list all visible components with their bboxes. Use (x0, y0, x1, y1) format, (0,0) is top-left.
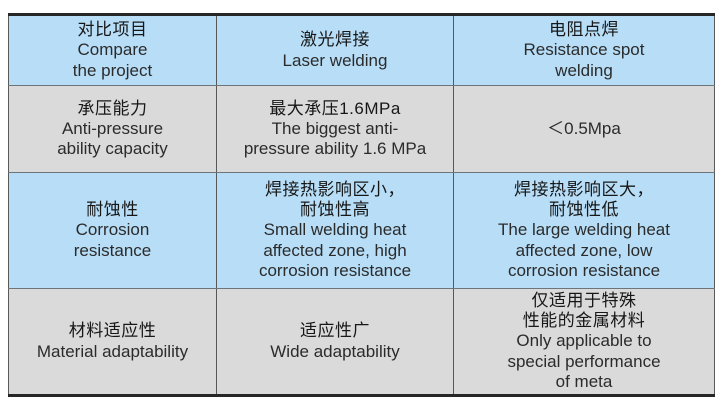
cell-en-line: Only applicable to (460, 331, 708, 351)
header-cell-text: 对比项目 Compare the project (15, 20, 210, 80)
cell-material-adaptability-resistance: 仅适用于特殊 性能的金属材料 Only applicable to specia… (454, 289, 715, 396)
cell-en-line: Wide adaptability (223, 342, 447, 362)
table-row: 承压能力 Anti-pressure ability capacity 最大承压… (9, 86, 715, 173)
cell-text: 焊接热影响区小， 耐蚀性高 Small welding heat affecte… (223, 180, 447, 280)
cell-cn-line: 性能的金属材料 (460, 311, 708, 331)
cell-anti-pressure-resistance: ＜0.5Mpa (454, 86, 715, 173)
cell-en-line: special performance (460, 352, 708, 372)
cell-en-line: affected zone, high (223, 241, 447, 261)
header-cell-laser-welding: 激光焊接 Laser welding (217, 15, 454, 86)
cell-en-line: ＜0.5Mpa (460, 119, 708, 139)
cell-en-line: affected zone, low (460, 241, 708, 261)
cell-text: 仅适用于特殊 性能的金属材料 Only applicable to specia… (460, 291, 708, 391)
cell-text: 焊接热影响区大， 耐蚀性低 The large welding heat aff… (460, 180, 708, 280)
header-cn-label: 对比项目 (15, 20, 210, 40)
header-en-label-line2: welding (460, 61, 708, 81)
cell-material-adaptability-laser: 适应性广 Wide adaptability (217, 289, 454, 396)
header-en-label-line1: Resistance spot (460, 40, 708, 60)
cell-en-line: of meta (460, 372, 708, 392)
cell-text: 材料适应性 Material adaptability (15, 321, 210, 361)
cell-en-line: corrosion resistance (223, 261, 447, 281)
cell-anti-pressure-label: 承压能力 Anti-pressure ability capacity (9, 86, 217, 173)
cell-material-adaptability-label: 材料适应性 Material adaptability (9, 289, 217, 396)
cell-cn-line: 焊接热影响区大， (460, 180, 708, 200)
header-cn-label: 激光焊接 (223, 30, 447, 50)
cell-en-line: pressure ability 1.6 MPa (223, 139, 447, 159)
header-cell-resistance-spot-welding: 电阻点焊 Resistance spot welding (454, 15, 715, 86)
header-cell-text: 电阻点焊 Resistance spot welding (460, 20, 708, 80)
cell-en-line: ability capacity (15, 139, 210, 159)
cell-cn-line: 耐蚀性高 (223, 200, 447, 220)
cell-cn-line: 耐蚀性 (15, 200, 210, 220)
cell-corrosion-resistance-spot: 焊接热影响区大， 耐蚀性低 The large welding heat aff… (454, 173, 715, 289)
cell-cn-line: 耐蚀性低 (460, 200, 708, 220)
cell-anti-pressure-laser: 最大承压1.6MPa The biggest anti- pressure ab… (217, 86, 454, 173)
table-row: 材料适应性 Material adaptability 适应性广 Wide ad… (9, 289, 715, 396)
header-cell-compare-the-project: 对比项目 Compare the project (9, 15, 217, 86)
cell-en-line: resistance (15, 241, 210, 261)
cell-cn-line: 适应性广 (223, 321, 447, 341)
cell-cn-line: 仅适用于特殊 (460, 291, 708, 311)
table-body: 对比项目 Compare the project 激光焊接 Laser weld… (9, 15, 715, 396)
cell-cn-line: 最大承压1.6MPa (223, 99, 447, 119)
table-row: 耐蚀性 Corrosion resistance 焊接热影响区小， 耐蚀性高 S… (9, 173, 715, 289)
cell-text: 耐蚀性 Corrosion resistance (15, 200, 210, 260)
header-en-label-line2: the project (15, 61, 210, 81)
cell-en-line: The large welding heat (460, 220, 708, 240)
cell-text: 承压能力 Anti-pressure ability capacity (15, 99, 210, 159)
welding-comparison-table: 对比项目 Compare the project 激光焊接 Laser weld… (8, 13, 715, 397)
cell-text: ＜0.5Mpa (460, 119, 708, 139)
header-cell-text: 激光焊接 Laser welding (223, 30, 447, 70)
cell-en-line: Small welding heat (223, 220, 447, 240)
header-en-label-line1: Compare (15, 40, 210, 60)
cell-text: 适应性广 Wide adaptability (223, 321, 447, 361)
cell-corrosion-laser: 焊接热影响区小， 耐蚀性高 Small welding heat affecte… (217, 173, 454, 289)
table-header-row: 对比项目 Compare the project 激光焊接 Laser weld… (9, 15, 715, 86)
header-cn-label: 电阻点焊 (460, 20, 708, 40)
cell-en-line: The biggest anti- (223, 119, 447, 139)
cell-en-line: Anti-pressure (15, 119, 210, 139)
cell-cn-line: 承压能力 (15, 99, 210, 119)
cell-cn-line: 材料适应性 (15, 321, 210, 341)
cell-en-line: Material adaptability (15, 342, 210, 362)
header-en-label-line1: Laser welding (223, 51, 447, 71)
cell-cn-line: 焊接热影响区小， (223, 180, 447, 200)
cell-en-line: Corrosion (15, 220, 210, 240)
cell-text: 最大承压1.6MPa The biggest anti- pressure ab… (223, 99, 447, 159)
cell-corrosion-label: 耐蚀性 Corrosion resistance (9, 173, 217, 289)
cell-en-line: corrosion resistance (460, 261, 708, 281)
comparison-table-container: 对比项目 Compare the project 激光焊接 Laser weld… (8, 13, 714, 394)
